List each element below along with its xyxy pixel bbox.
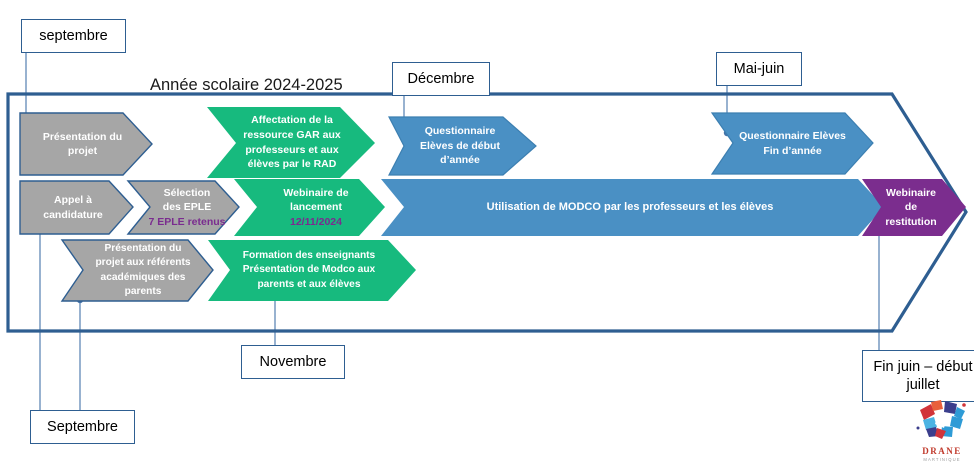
middle-item-label: Utilisation de MODCO par les professeurs… bbox=[479, 200, 782, 214]
middle-item-sublabel: 7 EPLE retenus bbox=[148, 215, 225, 229]
callout-septembre-bottom[interactable]: Septembre bbox=[30, 410, 135, 444]
callout-septembre-top[interactable]: septembre bbox=[21, 19, 126, 53]
callout-fin-juin[interactable]: Fin juin – début juillet bbox=[862, 350, 974, 402]
middle-item-label: Webinaire de lancement bbox=[256, 186, 376, 214]
callout-label: Novembre bbox=[260, 354, 327, 371]
middle-item-label: Sélection des EPLE bbox=[146, 186, 228, 214]
timeline-diagram: Année scolaire 2024-2025 Présentation du… bbox=[0, 0, 974, 460]
top-item-label: Présentation du projet bbox=[20, 130, 145, 158]
middle-item-label: Webinaire de restitution bbox=[877, 186, 944, 229]
callout-novembre[interactable]: Novembre bbox=[241, 345, 345, 379]
drane-wordmark: DRANE bbox=[914, 447, 970, 456]
middle-item-selection-eple[interactable]: Sélection des EPLE 7 EPLE retenus bbox=[146, 181, 228, 234]
bottom-item-formation-enseignants[interactable]: Formation des enseignants Présentation d… bbox=[230, 240, 388, 301]
callout-label: Septembre bbox=[47, 419, 118, 436]
middle-item-sublabel: 12/11/2024 bbox=[290, 215, 342, 229]
bottom-item-presentation-referents[interactable]: Présentation du projet aux référents aca… bbox=[82, 240, 204, 301]
top-item-questionnaire-fin[interactable]: Questionnaire Elèves Fin d’année bbox=[726, 113, 859, 174]
callout-decembre[interactable]: Décembre bbox=[392, 62, 490, 96]
callout-label: Fin juin – début juillet bbox=[871, 358, 974, 394]
callout-label: Mai-juin bbox=[734, 61, 785, 78]
callout-label: Décembre bbox=[408, 71, 475, 88]
top-item-label: Questionnaire Elèves de début d’année bbox=[399, 124, 521, 168]
top-item-affectation-gar[interactable]: Affectation de la ressource GAR aux prof… bbox=[222, 107, 362, 178]
band-title: Année scolaire 2024-2025 bbox=[150, 76, 343, 95]
bottom-item-label: Formation des enseignants Présentation d… bbox=[230, 249, 388, 292]
middle-item-utilisation-modco[interactable]: Utilisation de MODCO par les professeurs… bbox=[404, 179, 856, 236]
top-item-presentation-du-projet[interactable]: Présentation du projet bbox=[20, 113, 145, 175]
middle-item-label: Appel à candidature bbox=[22, 193, 124, 221]
drane-logo: DRANE MARTINIQUE bbox=[914, 398, 970, 454]
callout-label: septembre bbox=[39, 28, 108, 45]
callout-mai-juin[interactable]: Mai-juin bbox=[716, 52, 802, 86]
middle-item-appel-a-candidature[interactable]: Appel à candidature bbox=[22, 181, 124, 234]
bottom-item-label: Présentation du projet aux référents aca… bbox=[82, 242, 204, 299]
top-item-label: Affectation de la ressource GAR aux prof… bbox=[222, 113, 362, 172]
middle-item-webinaire-lancement[interactable]: Webinaire de lancement 12/11/2024 bbox=[256, 179, 376, 236]
top-item-questionnaire-debut[interactable]: Questionnaire Elèves de début d’année bbox=[399, 117, 521, 175]
middle-item-webinaire-restitution[interactable]: Webinaire de restitution bbox=[878, 179, 944, 236]
top-item-label: Questionnaire Elèves Fin d’année bbox=[726, 129, 859, 158]
drane-logo-mark bbox=[914, 398, 970, 442]
